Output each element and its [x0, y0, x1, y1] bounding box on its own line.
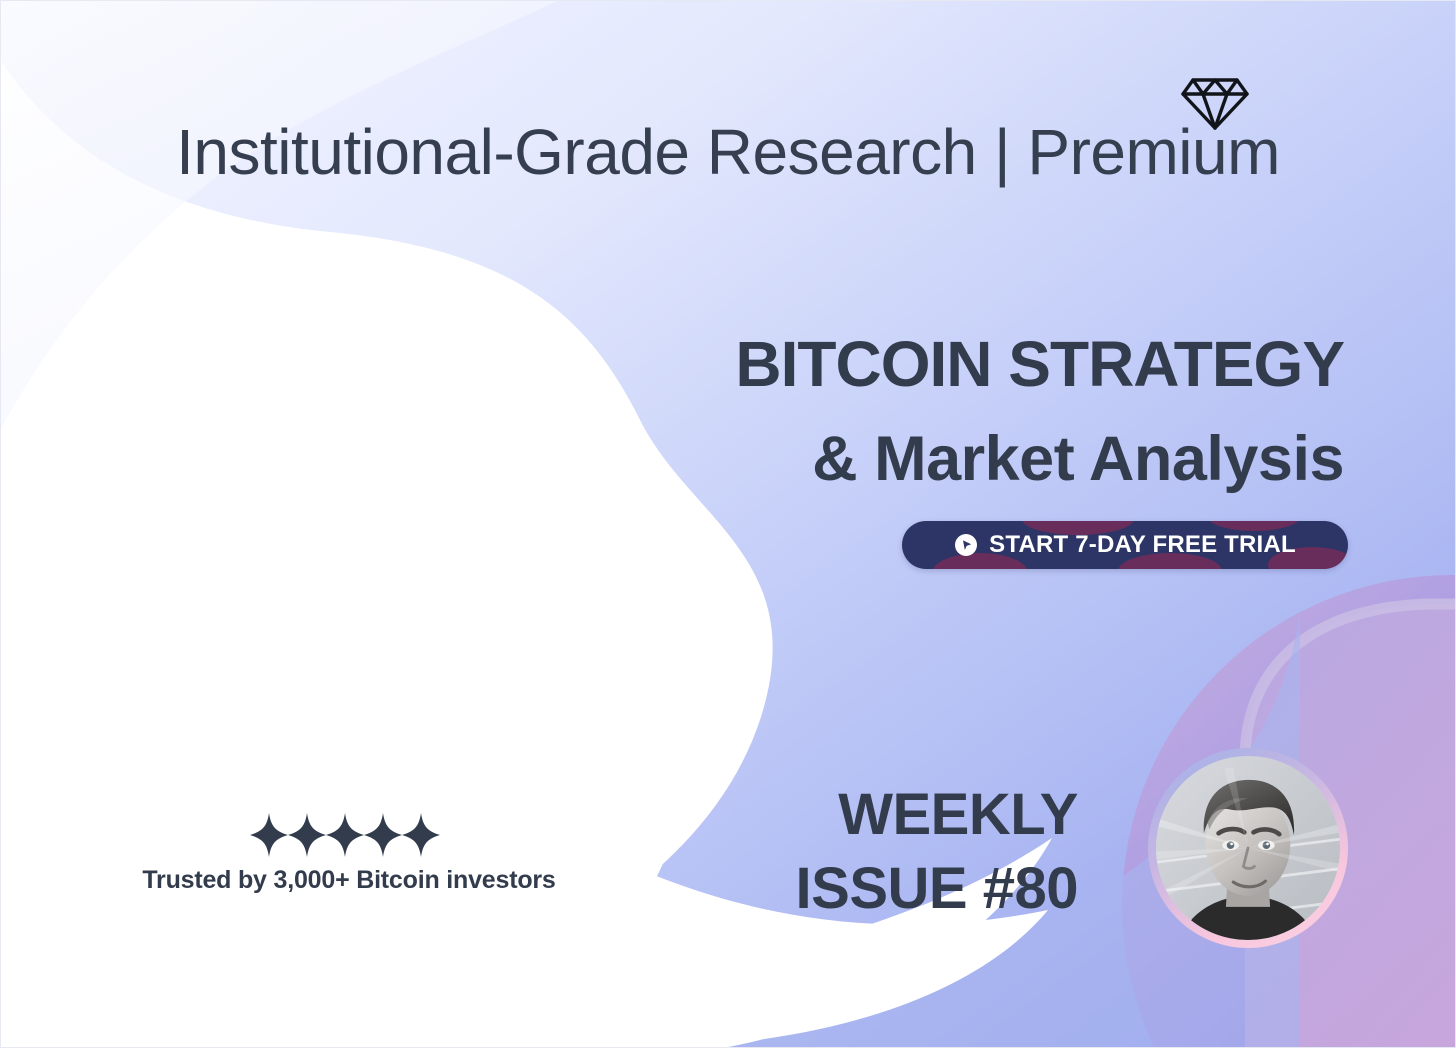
trust-block: Trusted by 3,000+ Bitcoin investors: [114, 812, 584, 895]
four-point-star-icon: [364, 813, 402, 857]
cta-label: START 7-DAY FREE TRIAL: [989, 531, 1296, 559]
issue-number: ISSUE #80: [796, 852, 1078, 926]
four-point-star-icon: [402, 813, 440, 857]
four-point-star-icon: [288, 813, 326, 857]
rating-stars: [249, 812, 449, 858]
four-point-star-icon: [250, 813, 288, 857]
issue-block: WEEKLY ISSUE #80: [796, 778, 1078, 926]
start-free-trial-button[interactable]: START 7-DAY FREE TRIAL: [902, 521, 1348, 569]
avatar-image-clip: [1156, 756, 1340, 940]
promo-canvas: Institutional-Grade Research | Premium B…: [0, 0, 1456, 1048]
play-circle-icon: [954, 533, 978, 557]
hero-line-primary: BITCOIN STRATEGY: [584, 316, 1344, 412]
diamond-gem-icon: [1179, 70, 1251, 134]
trust-caption: Trusted by 3,000+ Bitcoin investors: [114, 866, 584, 895]
page-title: Institutional-Grade Research | Premium: [176, 118, 1280, 187]
four-point-star-icon: [326, 813, 364, 857]
author-portrait-icon: [1156, 756, 1340, 940]
hero-headline: BITCOIN STRATEGY & Market Analysis: [584, 316, 1344, 507]
cta-container: START 7-DAY FREE TRIAL: [902, 521, 1348, 569]
hero-line-secondary: & Market Analysis: [584, 412, 1344, 507]
avatar: [1148, 748, 1348, 948]
issue-frequency: WEEKLY: [796, 778, 1078, 852]
